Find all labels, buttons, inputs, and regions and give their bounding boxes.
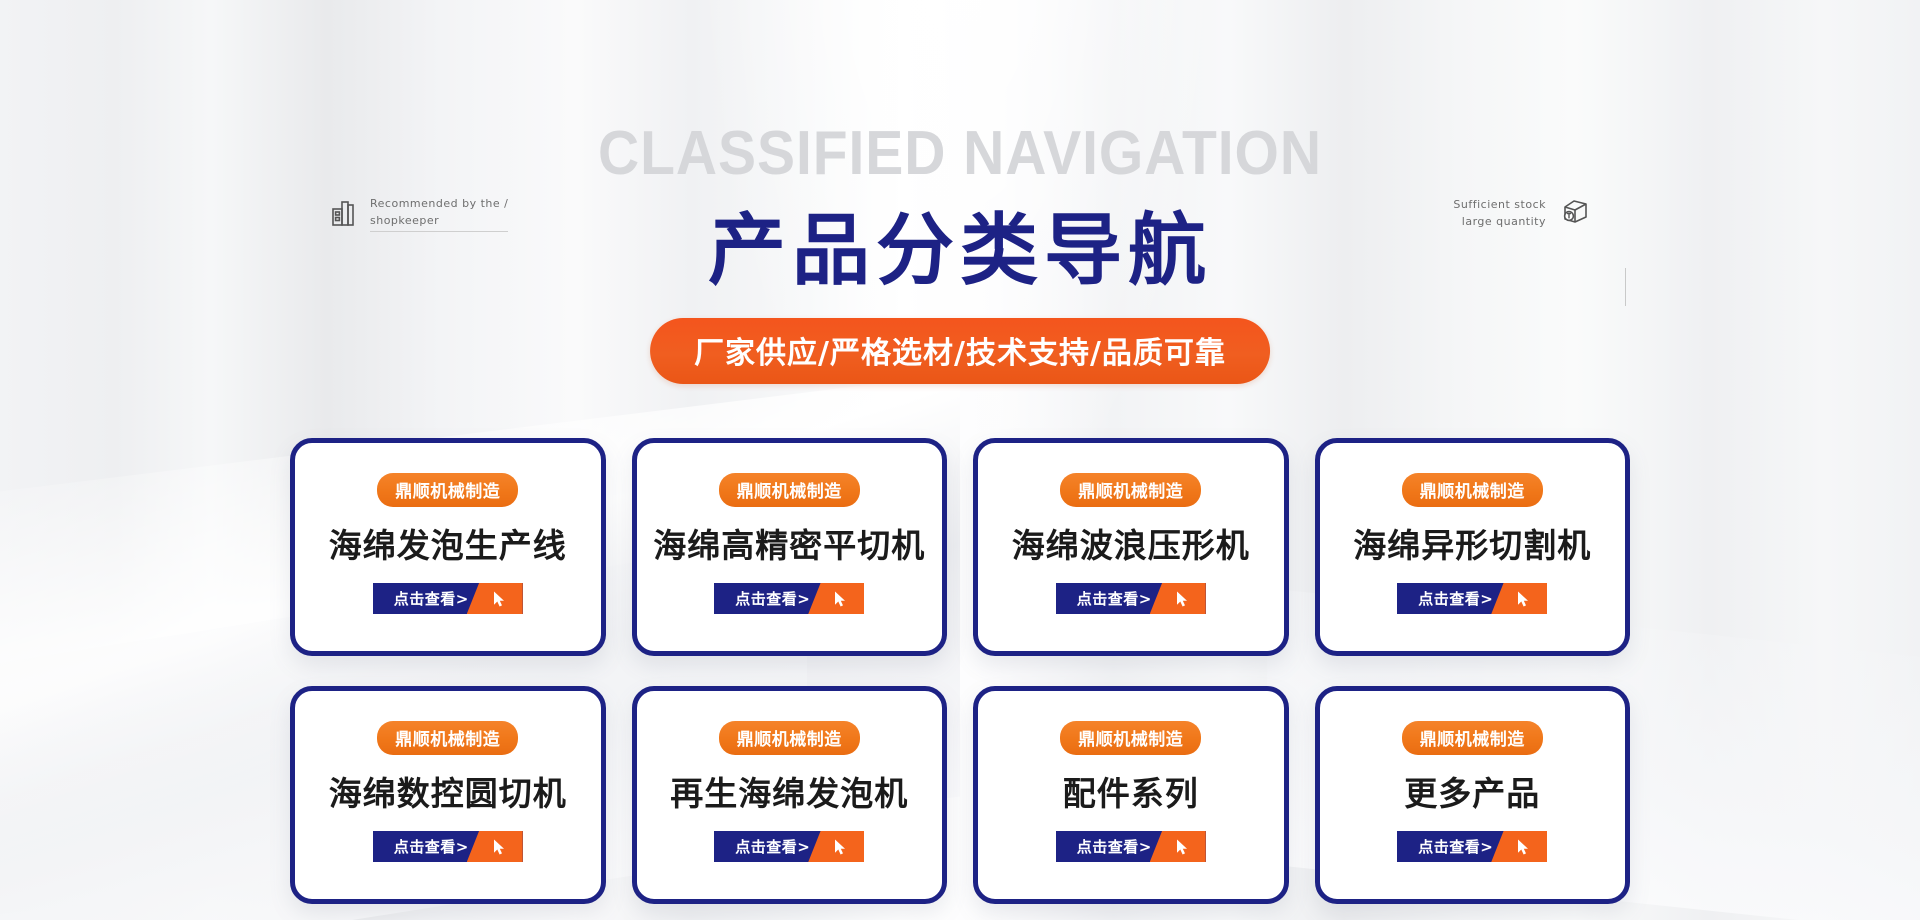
category-card-2[interactable]: 鼎顺机械制造 海绵高精密平切机 点击查看> bbox=[632, 438, 948, 656]
view-details-label: 点击查看> bbox=[1056, 588, 1152, 609]
brand-badge: 鼎顺机械制造 bbox=[377, 473, 518, 507]
view-details-button-8[interactable]: 点击查看> bbox=[1397, 831, 1547, 862]
view-details-button-2[interactable]: 点击查看> bbox=[714, 583, 864, 614]
category-card-grid: 鼎顺机械制造 海绵发泡生产线 点击查看> 鼎顺机械制造 海绵高精密平切机 点击查… bbox=[290, 438, 1630, 904]
category-title: 配件系列 bbox=[1063, 767, 1199, 815]
cursor-arrow-icon bbox=[833, 590, 848, 607]
view-details-button-7[interactable]: 点击查看> bbox=[1056, 831, 1206, 862]
category-title: 再生海绵发泡机 bbox=[670, 767, 908, 815]
category-title: 海绵发泡生产线 bbox=[329, 519, 567, 567]
category-title: 海绵波浪压形机 bbox=[1012, 519, 1250, 567]
page-header: CLASSIFIED NAVIGATION 产品分类导航 厂家供应/严格选材/技… bbox=[0, 0, 1920, 400]
deco-left: Recommended by the / shopkeeper bbox=[332, 196, 508, 232]
view-details-button-5[interactable]: 点击查看> bbox=[373, 831, 523, 862]
view-details-button-3[interactable]: 点击查看> bbox=[1056, 583, 1206, 614]
view-details-label: 点击查看> bbox=[714, 836, 810, 857]
brand-badge: 鼎顺机械制造 bbox=[377, 721, 518, 755]
category-card-4[interactable]: 鼎顺机械制造 海绵异形切割机 点击查看> bbox=[1315, 438, 1631, 656]
page-title-english-text: CLASSIFIED NAVIGATION bbox=[598, 118, 1322, 189]
building-icon bbox=[332, 198, 358, 231]
brand-badge: 鼎顺机械制造 bbox=[719, 721, 860, 755]
category-card-1[interactable]: 鼎顺机械制造 海绵发泡生产线 点击查看> bbox=[290, 438, 606, 656]
category-title: 海绵数控圆切机 bbox=[329, 767, 567, 815]
view-details-label: 点击查看> bbox=[1397, 836, 1493, 857]
cursor-arrow-icon bbox=[833, 838, 848, 855]
view-details-button-6[interactable]: 点击查看> bbox=[714, 831, 864, 862]
view-details-label: 点击查看> bbox=[373, 836, 469, 857]
brand-badge: 鼎顺机械制造 bbox=[1060, 473, 1201, 507]
deco-right-rule bbox=[1625, 268, 1626, 306]
cursor-arrow-icon bbox=[1516, 838, 1531, 855]
view-details-label: 点击查看> bbox=[1056, 836, 1152, 857]
deco-right-text: Sufficient stock large quantity bbox=[1453, 197, 1546, 230]
view-details-label: 点击查看> bbox=[1397, 588, 1493, 609]
cursor-arrow-icon bbox=[1175, 838, 1190, 855]
page-title: 产品分类导航 bbox=[708, 188, 1212, 300]
category-title: 更多产品 bbox=[1404, 767, 1540, 815]
view-details-button-1[interactable]: 点击查看> bbox=[373, 583, 523, 614]
view-details-label: 点击查看> bbox=[714, 588, 810, 609]
cursor-arrow-icon bbox=[492, 590, 507, 607]
deco-left-text: Recommended by the / shopkeeper bbox=[370, 196, 508, 232]
deco-left-line2: shopkeeper bbox=[370, 213, 508, 230]
category-card-7[interactable]: 鼎顺机械制造 配件系列 点击查看> bbox=[973, 686, 1289, 904]
deco-right-line1: Sufficient stock bbox=[1453, 197, 1546, 214]
view-details-button-4[interactable]: 点击查看> bbox=[1397, 583, 1547, 614]
brand-badge: 鼎顺机械制造 bbox=[1402, 721, 1543, 755]
category-card-3[interactable]: 鼎顺机械制造 海绵波浪压形机 点击查看> bbox=[973, 438, 1289, 656]
deco-right: Sufficient stock large quantity bbox=[1453, 196, 1590, 231]
category-card-5[interactable]: 鼎顺机械制造 海绵数控圆切机 点击查看> bbox=[290, 686, 606, 904]
brand-badge: 鼎顺机械制造 bbox=[1402, 473, 1543, 507]
cursor-arrow-icon bbox=[1175, 590, 1190, 607]
page-title-english: CLASSIFIED NAVIGATION bbox=[567, 118, 1354, 189]
deco-left-line1: Recommended by the / bbox=[370, 196, 508, 213]
brand-badge: 鼎顺机械制造 bbox=[719, 473, 860, 507]
category-title: 海绵异形切割机 bbox=[1353, 519, 1591, 567]
deco-right-line2: large quantity bbox=[1453, 214, 1546, 231]
page-stage: CLASSIFIED NAVIGATION 产品分类导航 厂家供应/严格选材/技… bbox=[0, 0, 1920, 920]
category-card-8[interactable]: 鼎顺机械制造 更多产品 点击查看> bbox=[1315, 686, 1631, 904]
cursor-arrow-icon bbox=[492, 838, 507, 855]
view-details-label: 点击查看> bbox=[373, 588, 469, 609]
cursor-arrow-icon bbox=[1516, 590, 1531, 607]
tagline-ribbon: 厂家供应/严格选材/技术支持/品质可靠 bbox=[650, 318, 1270, 384]
box-icon bbox=[1558, 196, 1590, 231]
brand-badge: 鼎顺机械制造 bbox=[1060, 721, 1201, 755]
category-title: 海绵高精密平切机 bbox=[653, 519, 925, 567]
category-card-6[interactable]: 鼎顺机械制造 再生海绵发泡机 点击查看> bbox=[632, 686, 948, 904]
